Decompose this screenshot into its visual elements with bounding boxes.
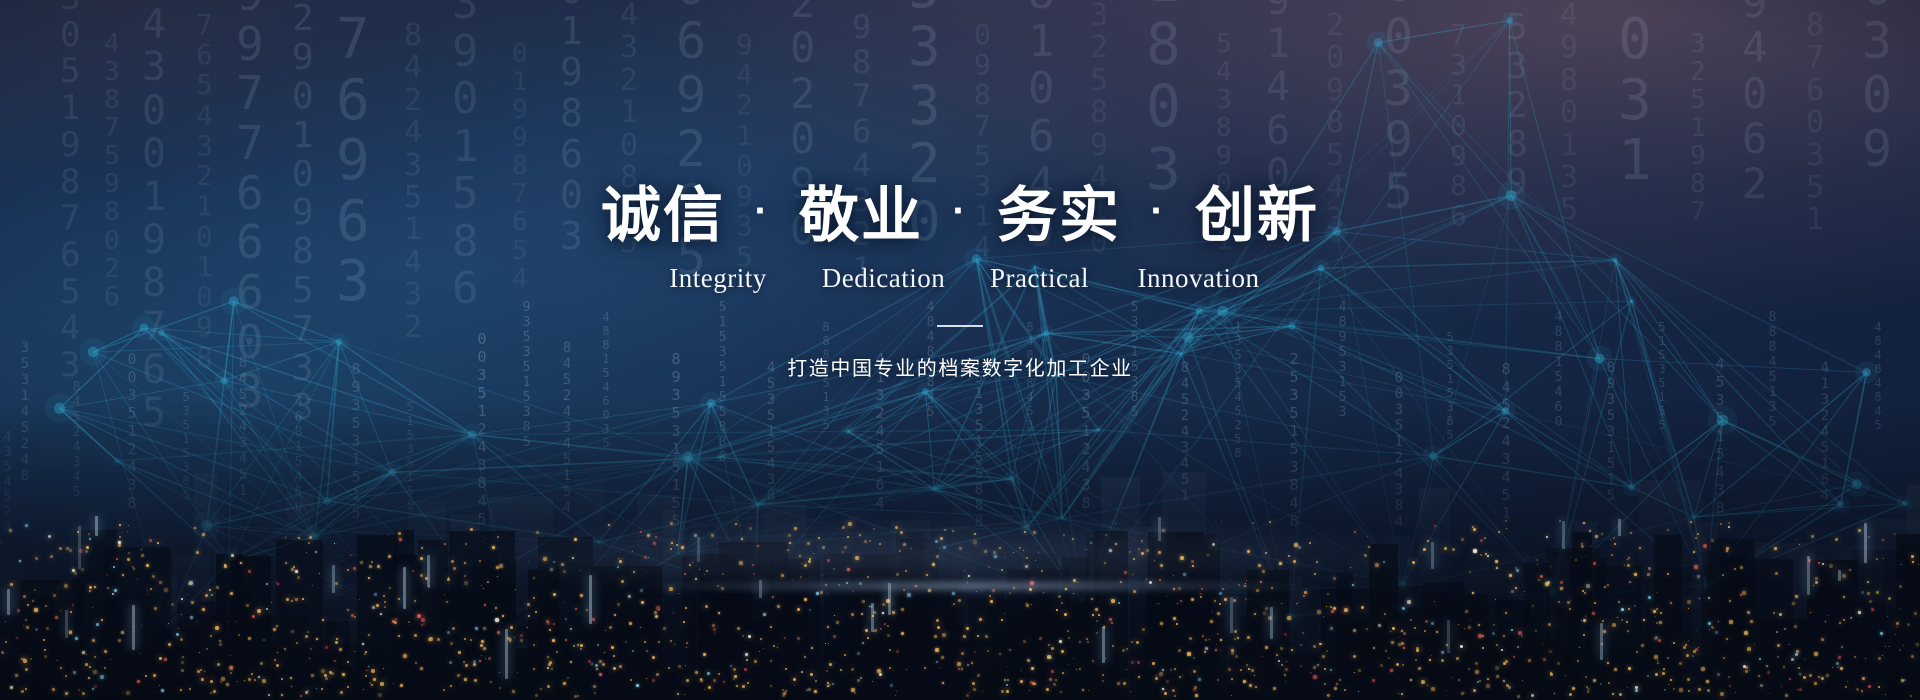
city-light (1570, 600, 1571, 601)
city-light (861, 613, 863, 615)
city-light (201, 678, 204, 681)
city-light (1281, 664, 1283, 666)
city-light (1231, 678, 1233, 680)
city-light (1858, 611, 1861, 614)
city-light (1543, 658, 1546, 661)
city-light (104, 650, 107, 653)
city-tower-glow (78, 526, 81, 569)
city-light (403, 654, 407, 658)
city-light (1515, 587, 1517, 589)
city-light (1587, 688, 1590, 691)
city-light (810, 673, 813, 676)
city-light (745, 653, 748, 656)
city-light (1595, 535, 1598, 538)
city-light (1827, 615, 1828, 616)
city-light (415, 662, 417, 664)
city-light (1051, 670, 1054, 673)
city-light (520, 634, 523, 637)
city-light (1910, 695, 1912, 697)
subtitle-word-innovation: Innovation (1113, 263, 1285, 294)
city-light (977, 674, 980, 677)
city-light (809, 609, 811, 611)
city-light (1475, 662, 1478, 665)
city-light (1667, 657, 1669, 659)
city-light (851, 613, 854, 616)
city-tower-glow (1618, 519, 1621, 536)
city-light (987, 650, 989, 652)
city-light (1233, 599, 1236, 602)
city-light (89, 538, 91, 540)
city-light (1461, 692, 1464, 695)
city-light (226, 683, 229, 686)
city-light (1176, 623, 1178, 625)
city-light (1723, 657, 1725, 659)
city-light (1361, 606, 1364, 609)
city-light (1849, 569, 1851, 571)
city-light (512, 690, 515, 693)
city-light (1673, 688, 1675, 690)
city-light (69, 549, 72, 552)
city-light (973, 688, 976, 691)
headline-separator-2: · (923, 191, 997, 231)
city-light (307, 631, 309, 633)
city-light (1695, 537, 1697, 539)
city-light (1284, 674, 1286, 676)
city-light (1560, 587, 1563, 590)
city-light (733, 678, 735, 680)
city-tower-glow (1230, 597, 1233, 633)
city-light (547, 622, 550, 625)
city-light (368, 634, 370, 636)
city-light (770, 685, 772, 687)
city-light (1388, 657, 1390, 659)
city-light (1683, 646, 1686, 649)
city-light (961, 652, 964, 655)
city-light (1604, 586, 1606, 588)
city-light (1656, 608, 1658, 610)
city-light (368, 577, 370, 579)
city-light (773, 645, 775, 647)
city-light (398, 635, 400, 637)
city-light (168, 643, 171, 646)
city-light (599, 673, 602, 676)
city-light (1098, 614, 1100, 616)
city-light (972, 682, 975, 685)
city-light (1773, 612, 1775, 614)
city-light (1607, 662, 1609, 664)
city-light (1053, 683, 1056, 686)
city-light (334, 660, 336, 662)
city-light (295, 598, 298, 601)
city-light (1818, 676, 1820, 678)
city-light (1255, 686, 1257, 688)
city-light (1055, 679, 1057, 681)
city-light (324, 674, 327, 677)
city-light (1618, 601, 1620, 603)
city-light (171, 603, 174, 606)
city-light (1441, 659, 1444, 662)
city-light (176, 633, 179, 636)
city-light (1592, 612, 1595, 615)
city-light (43, 639, 45, 641)
city-light (1627, 630, 1629, 632)
city-light (1862, 677, 1865, 680)
city-light (963, 635, 966, 638)
city-light (573, 645, 575, 647)
city-light (619, 665, 622, 668)
city-light (1436, 631, 1438, 633)
city-light (1628, 667, 1631, 670)
city-light (132, 566, 134, 568)
city-light (25, 619, 27, 621)
city-light (290, 677, 292, 679)
city-light (609, 626, 612, 629)
city-light (936, 661, 938, 663)
city-light (1590, 546, 1591, 547)
city-tower-glow (332, 565, 335, 593)
city-light (211, 594, 213, 596)
city-light (1536, 559, 1538, 561)
city-light (1109, 618, 1112, 621)
city-light (46, 627, 49, 630)
city-light (1744, 631, 1748, 635)
city-light (1240, 669, 1242, 671)
city-light (1540, 575, 1543, 578)
city-light (1251, 669, 1254, 672)
city-light (1401, 630, 1403, 632)
city-light (1064, 613, 1067, 616)
city-light (254, 679, 256, 681)
city-light (1904, 679, 1906, 681)
city-light (191, 601, 194, 604)
city-light (889, 667, 891, 669)
city-light (495, 618, 499, 622)
city-light (1692, 655, 1694, 657)
city-light (347, 661, 349, 663)
city-tower-glow (65, 610, 68, 638)
city-light (1583, 634, 1585, 636)
city-light (570, 661, 572, 663)
city-light (25, 668, 28, 671)
city-light (1703, 544, 1707, 548)
city-light (321, 669, 325, 673)
city-light (595, 664, 598, 667)
city-light (1707, 689, 1710, 692)
city-light (971, 662, 973, 664)
city-light (240, 562, 242, 564)
city-light (1621, 608, 1624, 611)
city-light (1287, 616, 1291, 620)
city-light (1628, 557, 1630, 559)
city-light (297, 576, 300, 579)
city-light (447, 631, 450, 634)
city-light (321, 688, 323, 690)
city-light (1402, 664, 1404, 666)
city-light (374, 593, 377, 596)
city-light (1603, 630, 1606, 633)
city-light (1789, 678, 1791, 680)
city-light (126, 691, 130, 695)
city-tower-glow (1600, 623, 1603, 660)
city-light (1767, 671, 1770, 674)
city-light (1654, 655, 1658, 659)
city-building-block (1423, 582, 1464, 700)
city-light (1505, 520, 1507, 522)
city-light (1174, 668, 1176, 670)
city-light (450, 642, 453, 645)
city-light (1508, 686, 1511, 689)
city-light (685, 607, 687, 609)
city-light (1916, 643, 1919, 646)
city-light (210, 635, 212, 637)
city-light (133, 568, 135, 570)
city-light (221, 677, 225, 681)
city-light (1278, 660, 1280, 662)
city-light (81, 568, 84, 571)
city-light (580, 644, 583, 647)
city-light (1679, 688, 1683, 692)
city-tower-glow (1864, 523, 1867, 563)
city-light (1627, 564, 1630, 567)
headline: 诚信·敬业·务实·创新 (0, 186, 1920, 246)
city-light (1858, 529, 1861, 532)
city-light (594, 692, 596, 694)
city-light (1482, 647, 1484, 649)
city-light (1581, 545, 1584, 548)
city-light (72, 569, 75, 572)
city-light (1518, 631, 1522, 635)
city-light (497, 631, 500, 634)
city-light (1, 651, 4, 654)
city-light (825, 643, 826, 644)
headline-word-2: 敬业 (799, 186, 923, 246)
city-light (1092, 614, 1094, 616)
city-light (194, 527, 196, 529)
city-light (1235, 655, 1238, 658)
city-light (746, 659, 748, 661)
city-light (449, 661, 452, 664)
city-light (88, 677, 90, 679)
city-light (1717, 673, 1720, 676)
city-light (1854, 656, 1856, 658)
city-light (549, 629, 551, 631)
city-light (1248, 668, 1250, 670)
city-light (804, 598, 807, 601)
city-light (1180, 600, 1182, 602)
city-light (632, 650, 634, 652)
city-light (1627, 559, 1628, 560)
city-light (1026, 604, 1029, 607)
city-light (1896, 622, 1899, 625)
city-light (1535, 630, 1537, 632)
city-light (829, 663, 832, 666)
city-light (1330, 606, 1332, 608)
city-light (1659, 621, 1662, 624)
city-light (744, 668, 747, 671)
city-light (307, 690, 309, 692)
city-light (16, 637, 18, 639)
city-light (229, 666, 233, 670)
city-light (882, 603, 885, 606)
city-light (1392, 627, 1395, 630)
city-light (1821, 638, 1824, 641)
city-light (1726, 550, 1728, 552)
city-light (189, 581, 193, 585)
city-light (475, 627, 478, 630)
city-light (380, 682, 384, 686)
city-light (1505, 612, 1507, 614)
city-light (942, 682, 944, 684)
city-light (339, 648, 342, 651)
city-light (154, 607, 157, 610)
city-light (1679, 662, 1682, 665)
city-light (1842, 574, 1846, 578)
city-light (417, 614, 421, 618)
city-light (369, 565, 372, 568)
city-light (593, 685, 596, 688)
city-light (552, 639, 555, 642)
city-light (565, 639, 567, 641)
city-light (1249, 684, 1252, 687)
city-light (420, 667, 423, 670)
city-light (953, 603, 955, 605)
city-light (395, 618, 397, 620)
city-light (877, 669, 881, 673)
city-light (296, 642, 298, 644)
subtitle-word-practical: Practical (967, 263, 1113, 294)
city-light (1729, 620, 1733, 624)
city-light (862, 600, 865, 603)
city-light (1194, 686, 1197, 689)
city-light (1865, 658, 1866, 659)
city-light (248, 637, 251, 640)
city-light (1545, 582, 1549, 586)
city-light (1410, 679, 1412, 681)
city-light (1062, 672, 1064, 674)
city-light (85, 663, 88, 666)
city-light (1560, 581, 1563, 584)
city-light (1803, 676, 1806, 679)
city-light (1390, 669, 1393, 672)
city-light (683, 621, 685, 623)
city-light (884, 623, 886, 625)
city-light (1586, 584, 1590, 588)
city-light (1648, 596, 1651, 599)
city-light (1159, 672, 1163, 676)
city-light (1829, 564, 1833, 568)
city-light (1583, 522, 1585, 524)
city-light (1794, 625, 1797, 628)
city-light (1663, 668, 1665, 670)
city-light (1575, 559, 1577, 561)
city-light (101, 619, 103, 621)
city-light (553, 593, 556, 596)
city-light (935, 648, 939, 652)
city-light (510, 626, 513, 629)
city-light (200, 669, 202, 671)
city-light (110, 659, 111, 660)
city-light (1398, 693, 1399, 694)
city-light (263, 639, 265, 641)
city-light (1020, 680, 1023, 683)
city-light (565, 618, 567, 620)
city-light (145, 675, 147, 677)
city-light (276, 664, 279, 667)
city-light (1538, 579, 1540, 581)
city-light (21, 658, 23, 660)
city-light (1839, 622, 1841, 624)
city-light (1034, 683, 1036, 685)
city-building-block (276, 540, 323, 700)
city-light (19, 560, 21, 562)
city-light (1067, 630, 1069, 632)
city-light (1662, 672, 1665, 675)
subtitle-english: IntegrityDedicationPracticalInnovation (0, 263, 1920, 294)
city-light (89, 586, 92, 589)
city-light (867, 637, 869, 639)
city-light (1777, 656, 1779, 658)
city-light (1569, 608, 1571, 610)
city-light (1205, 639, 1207, 641)
city-light (488, 657, 491, 660)
city-light (527, 603, 530, 606)
city-light (1643, 619, 1645, 621)
city-light (1914, 612, 1917, 615)
city-light (785, 668, 787, 670)
city-light (613, 667, 616, 670)
city-light (1324, 668, 1326, 670)
city-light (1331, 610, 1334, 613)
city-light (365, 651, 367, 653)
city-light (100, 675, 104, 679)
city-light (257, 609, 261, 613)
city-light (1137, 661, 1140, 664)
city-building-block (443, 643, 487, 700)
city-light (1641, 644, 1644, 647)
city-light (770, 626, 772, 628)
city-light (901, 632, 904, 635)
city-light (1594, 602, 1596, 604)
city-light (248, 570, 251, 573)
city-light (34, 608, 38, 612)
city-light (1795, 595, 1798, 598)
city-tower-glow (505, 629, 508, 679)
city-light (851, 688, 855, 692)
city-light (1611, 554, 1613, 556)
city-light (1795, 653, 1798, 656)
city-light (1403, 632, 1406, 635)
city-light (754, 660, 757, 663)
city-light (730, 665, 732, 667)
city-light (351, 614, 354, 617)
city-light (1572, 687, 1575, 690)
city-light (1313, 675, 1317, 679)
city-light (1403, 647, 1405, 649)
city-light (1056, 609, 1058, 611)
city-light (862, 642, 864, 644)
city-light (1814, 682, 1817, 685)
city-light (1300, 665, 1302, 667)
city-light (94, 685, 97, 688)
city-light (1410, 619, 1412, 621)
city-light (1706, 680, 1709, 683)
city-light (1396, 663, 1399, 666)
city-light (1546, 536, 1548, 538)
city-light (1814, 652, 1818, 656)
city-light (630, 679, 632, 681)
city-light (484, 604, 486, 606)
city-light (1747, 611, 1750, 614)
